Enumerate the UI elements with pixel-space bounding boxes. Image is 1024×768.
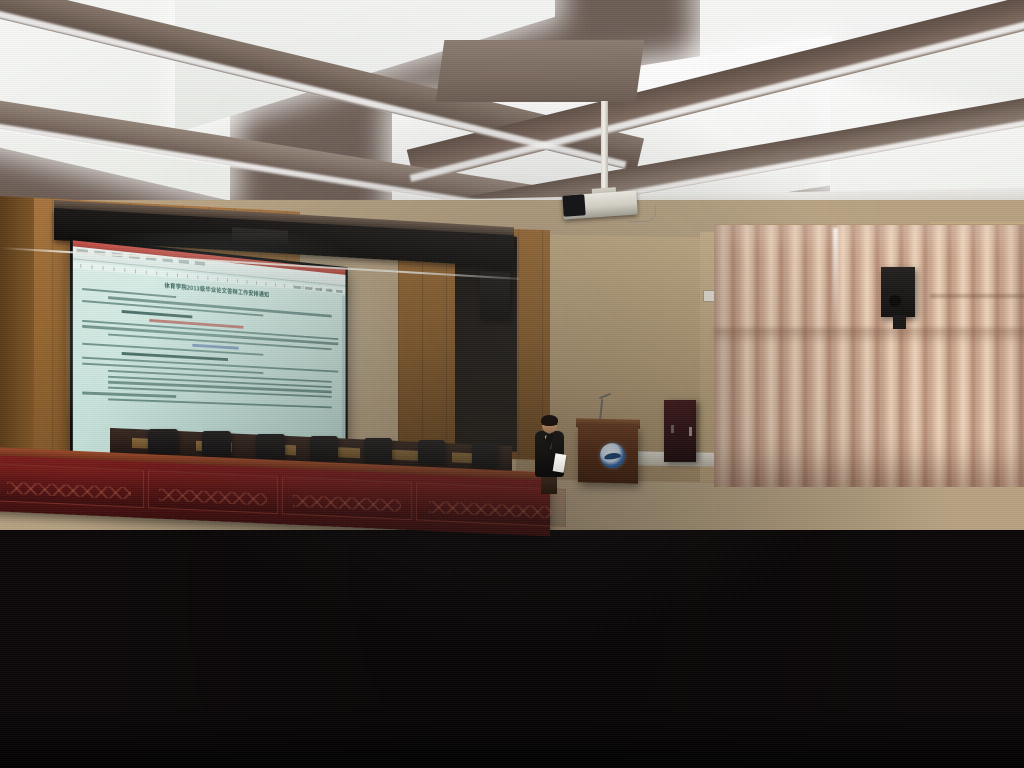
ruler-tick — [266, 282, 267, 286]
text-line — [108, 398, 331, 408]
ruler-tick — [92, 265, 93, 269]
ribbon-tab[interactable] — [195, 261, 205, 266]
seated-audience — [0, 438, 1024, 768]
ruler-tick — [135, 269, 136, 273]
ceiling-beam-intersection — [436, 40, 645, 102]
ruler-tick — [247, 280, 248, 284]
wall-recess — [455, 235, 517, 452]
ribbon-tab[interactable] — [315, 288, 322, 291]
projection-screen: 体育学院2013级毕业论文答辩工作安排通知 — [70, 237, 348, 460]
ruler-tick — [207, 276, 208, 280]
speaker-bracket — [893, 315, 906, 329]
ruler-tick — [124, 268, 125, 272]
ruler-tick — [146, 270, 147, 274]
ruler-tick — [114, 267, 115, 271]
curtain-highlight — [833, 228, 838, 324]
printed-notes — [553, 453, 567, 472]
curtain-crease — [714, 328, 1024, 344]
ceiling-speaker — [232, 227, 288, 245]
projector-mount-pole — [601, 101, 608, 197]
ribbon-tab[interactable] — [326, 289, 333, 292]
door-handle-icon — [671, 425, 674, 433]
text-line — [82, 392, 176, 398]
ruler-tick — [227, 278, 228, 282]
document-scrollbar[interactable] — [342, 296, 345, 456]
document-page: 体育学院2013级毕业论文答辩工作安排通知 — [82, 273, 338, 453]
door-handle-icon — [689, 427, 692, 436]
presenter-hair — [541, 415, 558, 426]
ruler-tick — [156, 271, 157, 275]
ruler-tick — [103, 266, 104, 270]
projected-document: 体育学院2013级毕业论文答辩工作安排通知 — [73, 240, 346, 457]
hyperlink-text-line[interactable] — [192, 344, 238, 349]
ribbon-tab[interactable] — [305, 287, 312, 290]
wall-switch-plate[interactable] — [703, 290, 715, 302]
wall-mounted-speaker — [881, 267, 915, 317]
presenter — [531, 416, 567, 488]
ceiling — [0, 0, 1024, 232]
ruler-tick — [237, 279, 238, 283]
ruler-tick — [80, 264, 81, 268]
presenter-legs — [541, 474, 557, 494]
speaker-cone-icon — [889, 295, 901, 307]
ruler-tick — [217, 277, 218, 281]
ruler-tick — [284, 284, 285, 288]
text-line — [82, 343, 263, 356]
projector-lens-icon — [562, 194, 585, 216]
ruler-tick — [256, 281, 257, 285]
ribbon-tab[interactable] — [336, 290, 343, 293]
projector-cable — [628, 206, 656, 222]
ruler-tick — [275, 283, 276, 287]
ruler-tick — [167, 272, 168, 276]
ribbon-tab[interactable] — [294, 286, 301, 289]
curtain-crease — [930, 294, 1024, 298]
ruler-tick — [177, 273, 178, 277]
ruler-tick — [187, 274, 188, 278]
auditorium-photo: 体育学院2013级毕业论文答辩工作安排通知 — [0, 0, 1024, 768]
ruler-tick — [197, 275, 198, 279]
